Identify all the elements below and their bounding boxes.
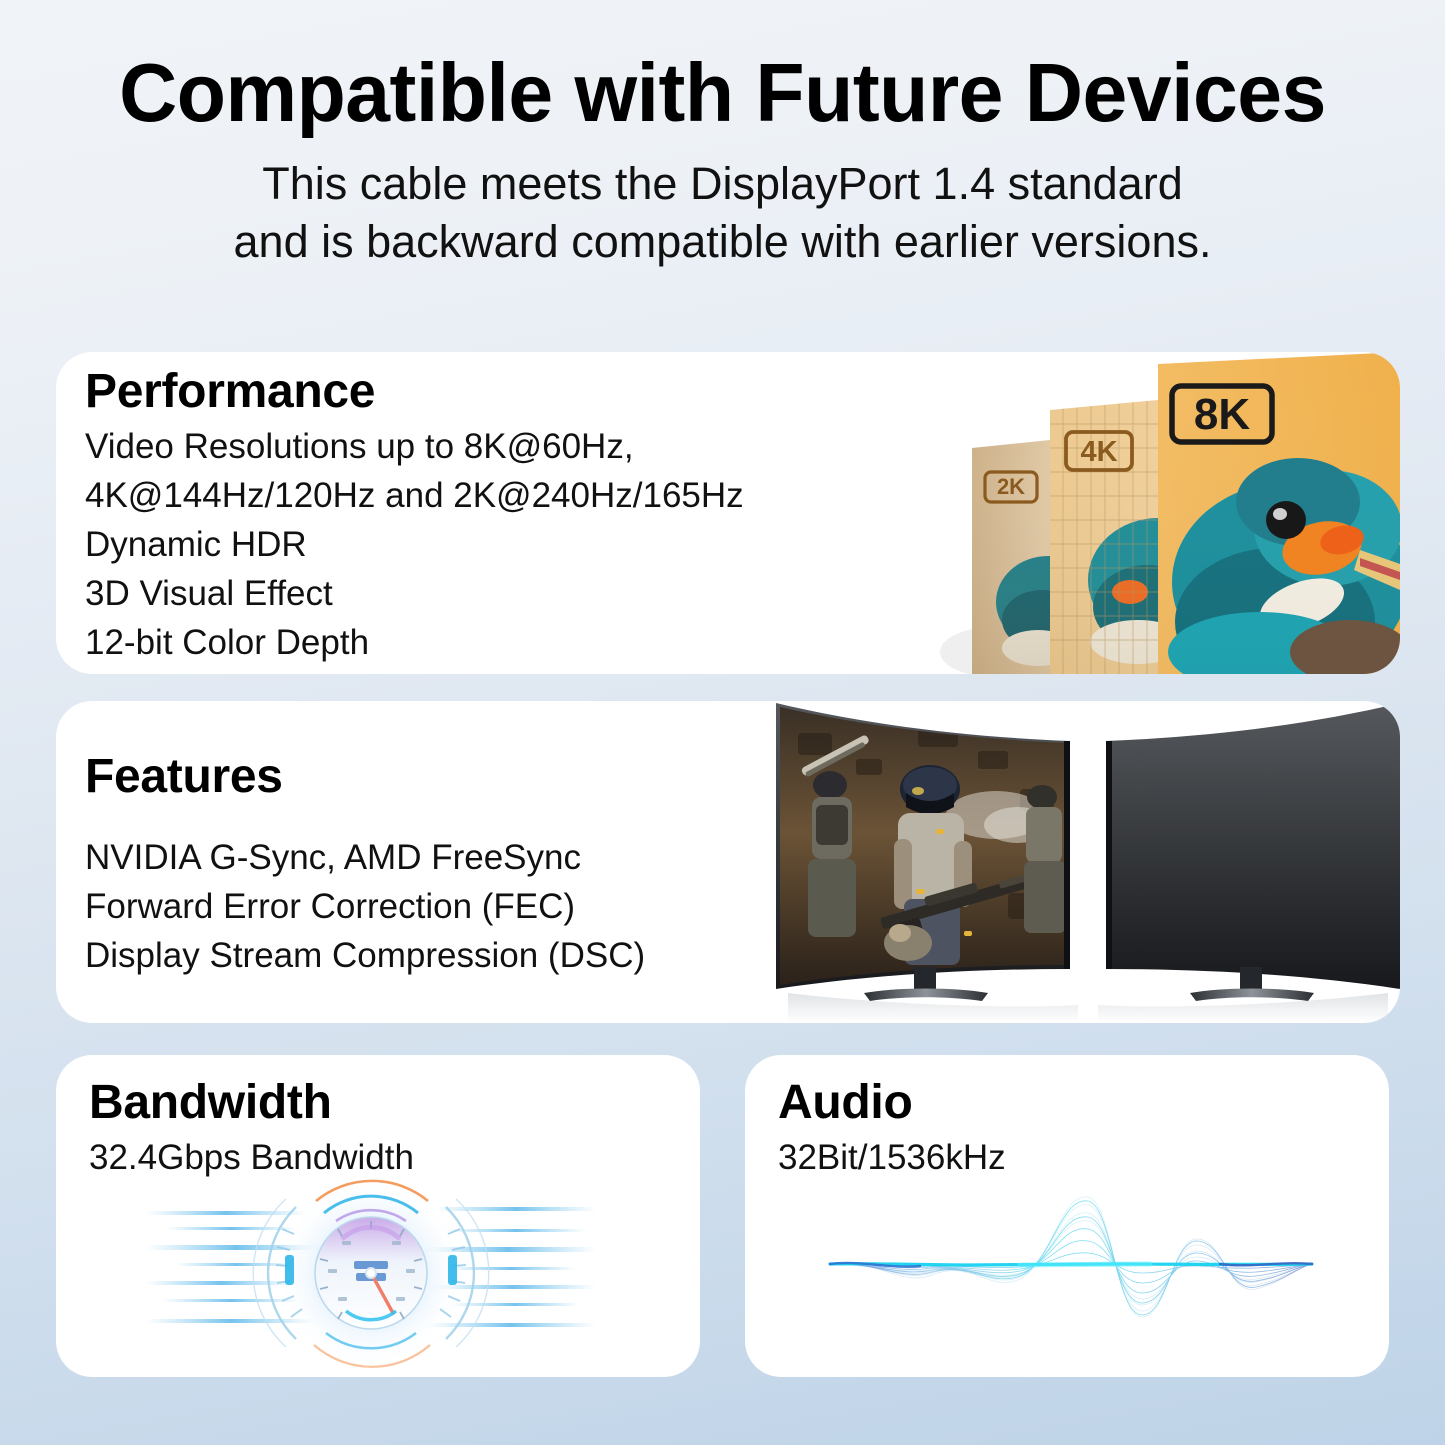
features-card: Features NVIDIA G-Sync, AMD FreeSync For… [56, 701, 1400, 1023]
resolution-comparison-panels-image: 2K [930, 352, 1400, 674]
label-2k: 2K [997, 474, 1025, 499]
performance-line-2: 4K@144Hz/120Hz and 2K@240Hz/165Hz [85, 471, 744, 520]
bottom-cards-row: Bandwidth 32.4Gbps Bandwidth [56, 1055, 1400, 1377]
audio-waveform-image [820, 1167, 1320, 1357]
page-subtitle-line-1: This cable meets the DisplayPort 1.4 sta… [0, 155, 1445, 213]
features-text-block: Features NVIDIA G-Sync, AMD FreeSync For… [85, 751, 645, 980]
audio-text-block: Audio 32Bit/1536kHz [778, 1077, 1006, 1182]
dual-curved-gaming-monitors-image [768, 701, 1400, 1023]
header-block: Compatible with Future Devices This cabl… [0, 0, 1445, 271]
bandwidth-title: Bandwidth [89, 1077, 414, 1129]
features-line-2: Forward Error Correction (FEC) [85, 882, 645, 931]
performance-line-5: 12-bit Color Depth [85, 618, 744, 667]
features-line-1: NVIDIA G-Sync, AMD FreeSync [85, 833, 645, 882]
features-title: Features [85, 751, 645, 803]
performance-text-block: Performance Video Resolutions up to 8K@6… [85, 366, 744, 667]
performance-title: Performance [85, 366, 744, 418]
label-8k: 8K [1194, 390, 1250, 439]
performance-line-3: Dynamic HDR [85, 520, 744, 569]
performance-line-1: Video Resolutions up to 8K@60Hz, [85, 422, 744, 471]
bandwidth-card: Bandwidth 32.4Gbps Bandwidth [56, 1055, 700, 1377]
audio-title: Audio [778, 1077, 1006, 1129]
page-subtitle-line-2: and is backward compatible with earlier … [0, 213, 1445, 271]
bandwidth-line-1: 32.4Gbps Bandwidth [89, 1133, 414, 1182]
features-line-3: Display Stream Compression (DSC) [85, 931, 645, 980]
feature-cards-container: 2K [56, 352, 1400, 1377]
audio-card: Audio 32Bit/1536kHz [745, 1055, 1389, 1377]
audio-line-1: 32Bit/1536kHz [778, 1133, 1006, 1182]
page-title: Compatible with Future Devices [22, 52, 1424, 133]
bandwidth-text-block: Bandwidth 32.4Gbps Bandwidth [89, 1077, 414, 1182]
performance-line-4: 3D Visual Effect [85, 569, 744, 618]
page-subtitle: This cable meets the DisplayPort 1.4 sta… [0, 155, 1445, 270]
label-4k: 4K [1080, 436, 1117, 468]
speedometer-hud-image [146, 1173, 596, 1373]
performance-card: 2K [56, 352, 1400, 674]
